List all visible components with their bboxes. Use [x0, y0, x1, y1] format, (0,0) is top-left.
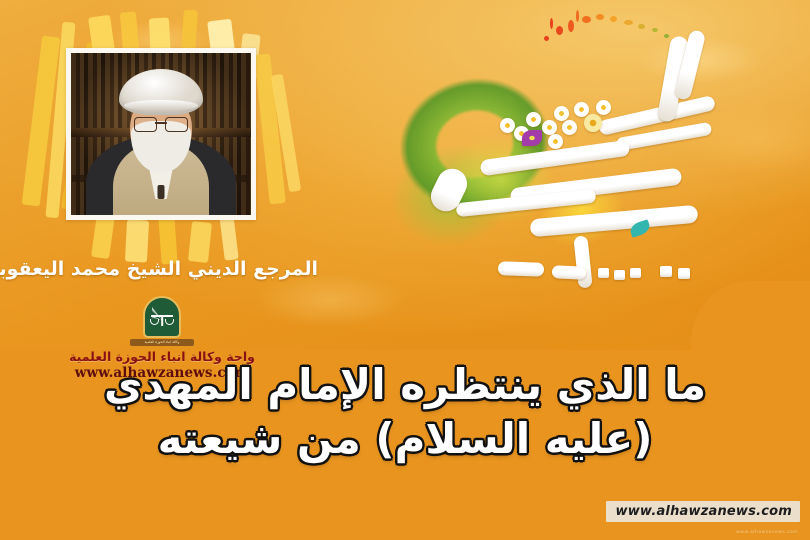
banner-root: المرجع الديني الشيخ محمد اليعقوبي وكالة … [0, 0, 810, 540]
flower-cluster [496, 96, 616, 154]
turban-shape [119, 69, 203, 115]
scholar-name: المرجع الديني الشيخ محمد اليعقوبي [0, 258, 318, 280]
hawza-crest-icon [143, 296, 181, 338]
balance-scale-icon [151, 315, 173, 327]
headline-line-1: ما الذي ينتظره الإمام المهدي [0, 358, 810, 412]
lapel-pin [158, 185, 165, 199]
calligraphy-dot [614, 270, 625, 280]
calligraphy-dot [678, 268, 690, 279]
watermark-micro: www.alhawzanews.com [736, 530, 798, 535]
portrait-frame [66, 48, 256, 220]
calligraphy-stroke [552, 265, 587, 280]
mahdi-calligraphy-art [330, 0, 730, 330]
headline-line-2: (عليه السلام) من شيعته [0, 412, 810, 466]
calligraphy-dot [630, 268, 641, 278]
calligraphy-stroke [498, 261, 544, 277]
calligraphy-dot [598, 268, 609, 278]
watermark-url: www.alhawzanews.com [606, 501, 800, 522]
cleric-figure [71, 53, 251, 215]
glasses-icon [134, 117, 188, 131]
crest-ribbon: وكالة انباء الحوزة العلمية [130, 339, 194, 346]
calligraphy-dot [660, 266, 672, 277]
cleric-portrait [71, 53, 251, 215]
